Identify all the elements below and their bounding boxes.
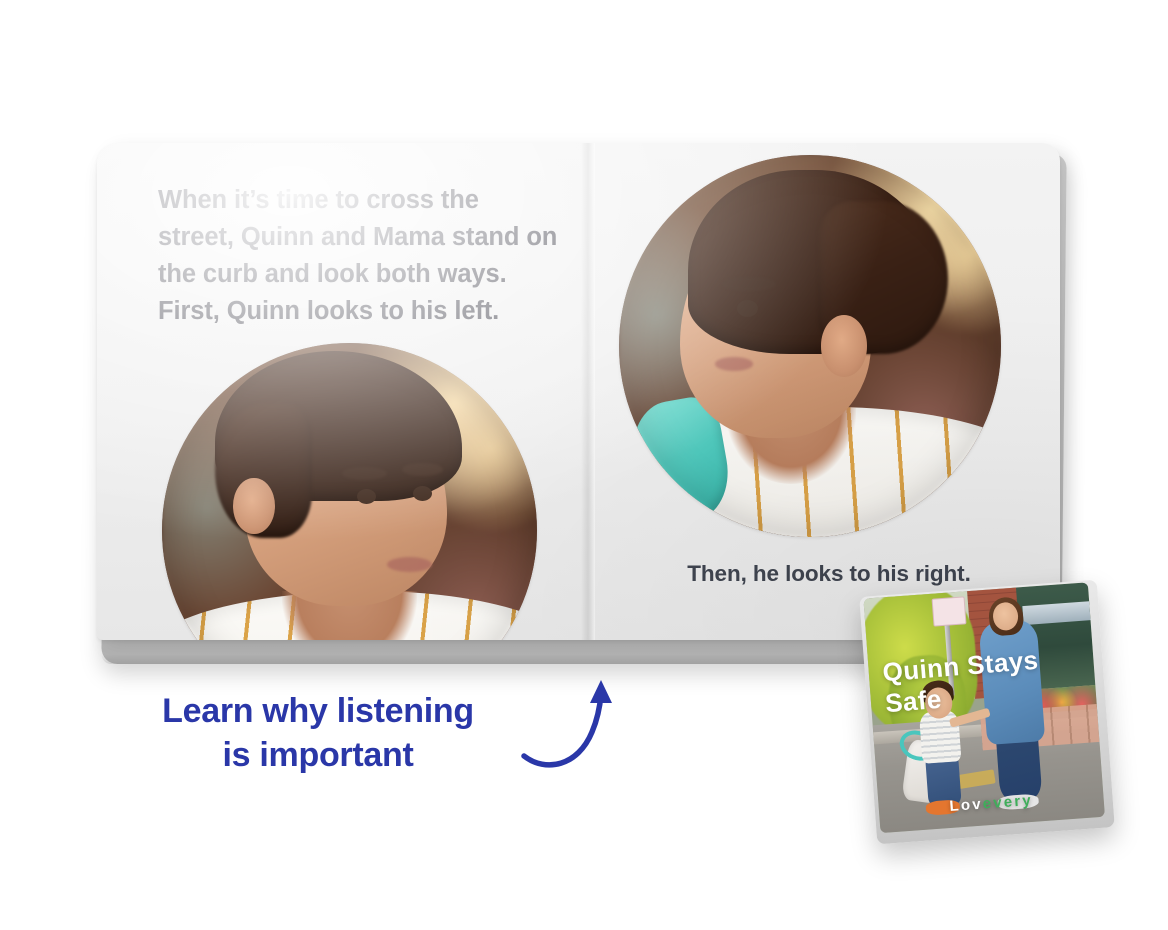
curved-arrow-up-right-icon [520,670,640,780]
book-cover-thumbnail[interactable]: Quinn Stays Safe Lovevery [859,580,1115,845]
cover-street-sign [931,596,966,626]
thumbnail-cover-art: Quinn Stays Safe Lovevery [863,582,1105,833]
right-page-photo [619,155,1001,537]
promo-caption: Learn why listening is important [123,690,513,777]
left-page-photo [162,343,537,640]
logo-part-lov: Lov [949,796,983,815]
caption-line-1: Learn why listening [123,690,513,734]
left-page-text: When it’s time to cross the street, Quin… [158,182,558,330]
right-page-text: Then, he looks to his right. [619,558,1039,590]
board-book-spread: When it’s time to cross the street, Quin… [90,136,1065,656]
caption-line-2: is important [123,734,513,778]
book-pages: When it’s time to cross the street, Quin… [97,143,1060,640]
book-right-page: Then, he looks to his right. [588,143,1060,640]
photo-vignette [619,155,1001,537]
book-left-page: When it’s time to cross the street, Quin… [97,143,588,640]
scene-canvas: When it’s time to cross the street, Quin… [0,0,1168,930]
